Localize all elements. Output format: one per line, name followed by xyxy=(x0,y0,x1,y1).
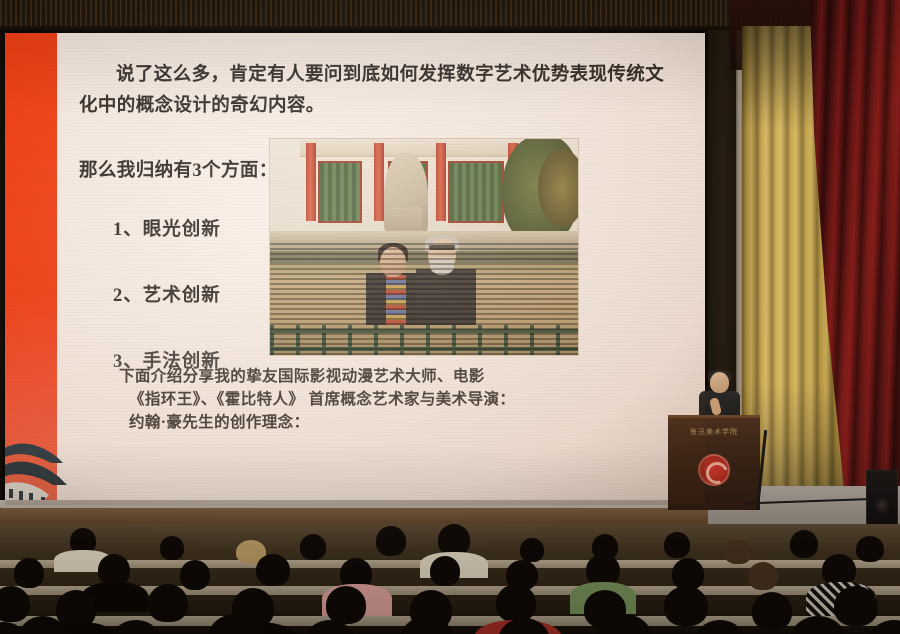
projection-screen: 说了这么多，肯定有人要问到底如何发挥数字艺术优势表现传统文化中的概念设计的奇幻内… xyxy=(5,33,705,505)
institution-emblem-icon xyxy=(698,454,730,486)
slide-paragraph-sub: 那么我归纳有3个方面： xyxy=(79,157,278,185)
closing-line-2: 《指环王》、《霍比特人》 首席概念艺术家与美术导演： xyxy=(119,388,639,411)
podium-name-plate: 鲁迅美术学院 xyxy=(672,427,756,437)
podium: 鲁迅美术学院 xyxy=(668,415,760,510)
slide-closing-text: 下面介绍分享我的挚友国际影视动漫艺术大师、电影 《指环王》、《霍比特人》 首席概… xyxy=(119,365,639,434)
closing-line-3: 约翰·豪先生的创作理念： xyxy=(119,411,639,434)
presenter xyxy=(697,372,741,420)
slide-photo xyxy=(270,139,578,355)
closing-line-1: 下面介绍分享我的挚友国际影视动漫艺术大师、电影 xyxy=(119,365,639,388)
audience-seating xyxy=(0,524,900,634)
lecture-hall-scene: 说了这么多，肯定有人要问到底如何发挥数字艺术优势表现传统文化中的概念设计的奇幻内… xyxy=(0,0,900,634)
slide-accent-band xyxy=(5,33,57,505)
slide-paragraph-main: 说了这么多，肯定有人要问到底如何发挥数字艺术优势表现传统文化中的概念设计的奇幻内… xyxy=(79,60,679,122)
